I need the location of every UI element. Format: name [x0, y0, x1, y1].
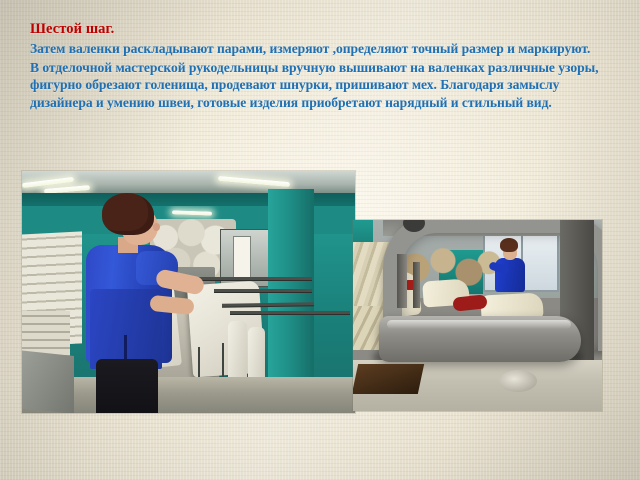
presentation-slide: Шестой шаг. Затем валенки раскладывают п…	[0, 0, 640, 480]
metal-tub	[22, 350, 74, 413]
photo-sewing-machine	[353, 220, 602, 411]
page-title: Шестой шаг.	[30, 20, 610, 38]
body-paragraph-1: Затем валенки раскладывают парами, измер…	[30, 40, 610, 58]
metal-rail	[214, 289, 312, 292]
photo-factory-floor	[22, 171, 355, 413]
round-metal-plate	[499, 370, 537, 392]
presser-bar	[413, 262, 420, 308]
dark-trousers	[96, 359, 158, 413]
table-recess	[353, 364, 424, 394]
factory-scene	[22, 171, 355, 413]
body-paragraph-2: В отделочной мастерской рукодельницы вру…	[30, 59, 610, 112]
machine-highlight	[387, 320, 571, 329]
hair	[102, 193, 154, 235]
slide-text-block: Шестой шаг. Затем валенки раскладывают п…	[30, 20, 610, 112]
needle-bar	[397, 254, 407, 308]
metal-rail	[230, 311, 350, 314]
sewing-scene	[353, 220, 602, 411]
worker-woman	[80, 193, 190, 413]
